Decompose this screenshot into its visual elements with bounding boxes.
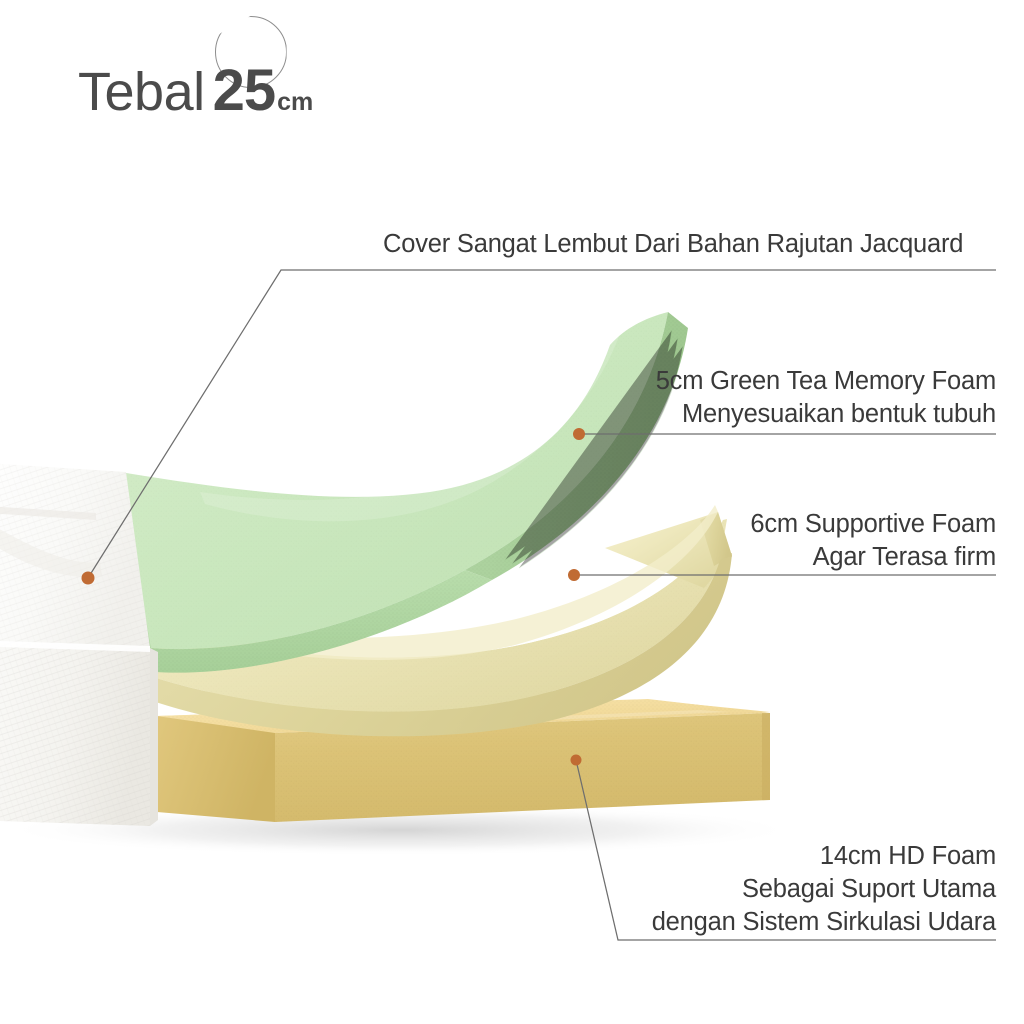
callout-cover: Cover Sangat Lembut Dari Bahan Rajutan J… — [383, 228, 963, 261]
leader-dots — [82, 428, 586, 766]
callout-hd-line-3: dengan Sistem Sirkulasi Udara — [652, 906, 996, 939]
leader-dot-hd-foam — [571, 755, 582, 766]
callout-cover-line-1: Cover Sangat Lembut Dari Bahan Rajutan J… — [383, 228, 963, 261]
leader-dot-cover — [82, 572, 95, 585]
callout-supportive-line-2: Agar Terasa firm — [750, 541, 996, 574]
callout-hd-line-1: 14cm HD Foam — [652, 840, 996, 873]
thickness-badge: Tebal 25 cm — [78, 62, 313, 142]
badge-word: Tebal — [78, 65, 205, 119]
callout-hd-line-2: Sebagai Suport Utama — [652, 873, 996, 906]
callout-green-line-1: 5cm Green Tea Memory Foam — [656, 365, 996, 398]
layer-jacquard-cover — [0, 462, 158, 826]
layer-green-tea-memory-foam — [120, 312, 688, 673]
callout-green-line-2: Menyesuaikan bentuk tubuh — [656, 398, 996, 431]
layer-supportive-foam — [140, 505, 732, 736]
callout-green-tea-memory-foam: 5cm Green Tea Memory Foam Menyesuaikan b… — [656, 365, 996, 431]
badge-unit: cm — [277, 90, 313, 115]
leader-dot-green-tea-memory-foam — [573, 428, 585, 440]
layer-hd-foam — [150, 699, 770, 822]
badge-number: 25 — [213, 62, 276, 120]
leader-dot-supportive-foam — [568, 569, 580, 581]
callout-supportive-foam: 6cm Supportive Foam Agar Terasa firm — [750, 508, 996, 574]
mattress-layer-infographic: Tebal 25 cm — [0, 0, 1024, 1024]
callout-hd-foam: 14cm HD Foam Sebagai Suport Utama dengan… — [652, 840, 996, 939]
callout-supportive-line-1: 6cm Supportive Foam — [750, 508, 996, 541]
badge-number-group: 25 cm — [213, 62, 314, 120]
